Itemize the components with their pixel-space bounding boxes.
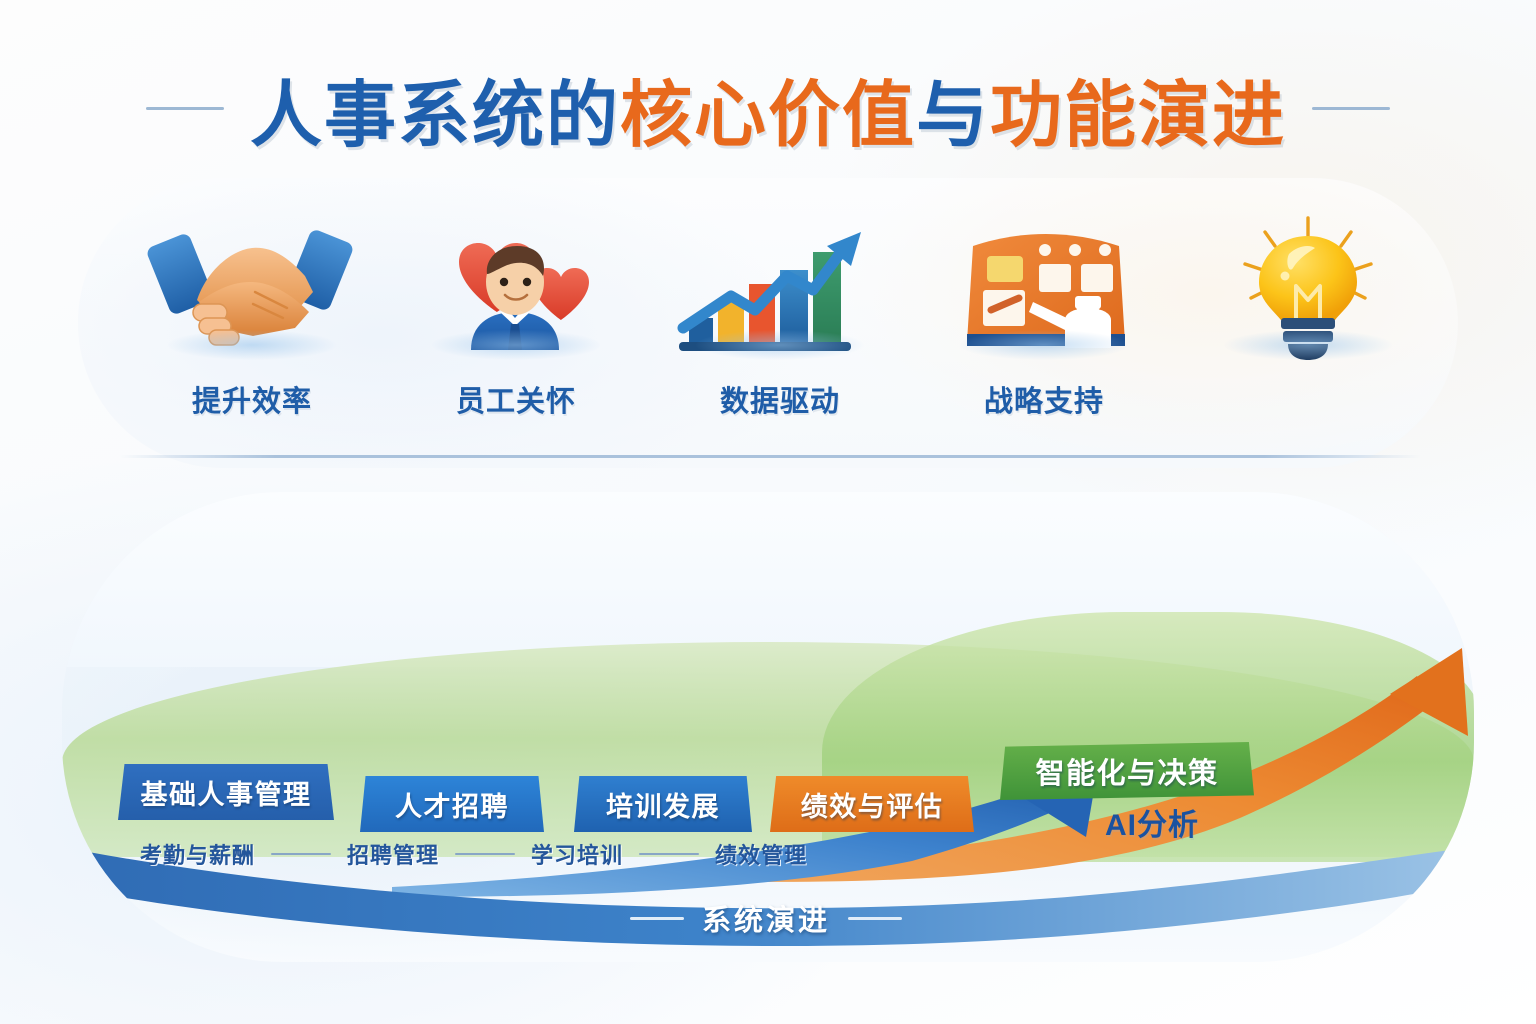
- value-item-employee-care[interactable]: 员工关怀: [384, 200, 648, 420]
- sublabel-connector: [455, 853, 515, 855]
- sublabel-learning-training[interactable]: 学习培训: [531, 838, 623, 870]
- presentation-board-icon: [929, 200, 1159, 368]
- core-value-items: 提升效率: [120, 200, 1440, 450]
- value-panel-divider: [120, 455, 1420, 458]
- title-rule-left: [146, 107, 224, 110]
- value-label-strategy-support: 战略支持: [984, 378, 1104, 420]
- title-rule-right: [1312, 107, 1390, 110]
- bar-chart-growth-icon: [665, 200, 895, 368]
- ai-analysis-label[interactable]: AI分析: [1062, 800, 1242, 844]
- value-label-data-driven: 数据驱动: [720, 378, 840, 420]
- person-hearts-icon: [401, 200, 631, 368]
- sublabel-connector: [639, 853, 699, 855]
- sublabel-performance-mgmt[interactable]: 绩效管理: [715, 838, 807, 870]
- evolution-dash-right: [848, 917, 902, 920]
- stage-banner-basic-hr[interactable]: 基础人事管理: [118, 764, 334, 820]
- sublabel-recruitment-mgmt[interactable]: 招聘管理: [347, 838, 439, 870]
- value-item-strategy-support[interactable]: 战略支持: [912, 200, 1176, 420]
- stage-banner-intelligence[interactable]: 智能化与决策: [1000, 742, 1254, 800]
- title-part-4: 功能演进: [990, 76, 1286, 156]
- icon-shadow: [1224, 330, 1392, 360]
- value-item-innovation[interactable]: [1176, 200, 1440, 378]
- handshake-icon: [137, 200, 367, 368]
- title-part-3: 与: [916, 76, 990, 156]
- sublabel-attendance-payroll[interactable]: 考勤与薪酬: [140, 838, 255, 870]
- evolution-label-wrap: 系统演进: [566, 896, 966, 940]
- evolution-dash-left: [630, 917, 684, 920]
- stage-banner-performance[interactable]: 绩效与评估: [770, 776, 974, 832]
- value-item-data-driven[interactable]: 数据驱动: [648, 200, 912, 420]
- stage-banner-training[interactable]: 培训发展: [574, 776, 752, 832]
- icon-shadow: [168, 330, 336, 360]
- stage-sublabels-row: 考勤与薪酬 招聘管理 学习培训 绩效管理: [140, 836, 940, 872]
- stage-banner-recruitment[interactable]: 人才招聘: [360, 776, 544, 832]
- sublabel-connector: [271, 853, 331, 855]
- page-title-row: 人事系统的核心价值与功能演进: [0, 56, 1536, 161]
- icon-shadow: [432, 330, 600, 360]
- title-part-1: 人事系统的: [250, 76, 620, 156]
- evolution-timeline-panel: [62, 492, 1474, 962]
- title-part-2: 核心价值: [620, 76, 916, 156]
- value-label-employee-care: 员工关怀: [456, 378, 576, 420]
- lightbulb-icon: [1193, 200, 1423, 368]
- icon-shadow: [960, 330, 1128, 360]
- value-label-efficiency: 提升效率: [192, 378, 312, 420]
- evolution-label: 系统演进: [702, 897, 830, 939]
- value-item-efficiency[interactable]: 提升效率: [120, 200, 384, 420]
- icon-shadow: [696, 330, 864, 360]
- page-title: 人事系统的核心价值与功能演进: [250, 56, 1286, 161]
